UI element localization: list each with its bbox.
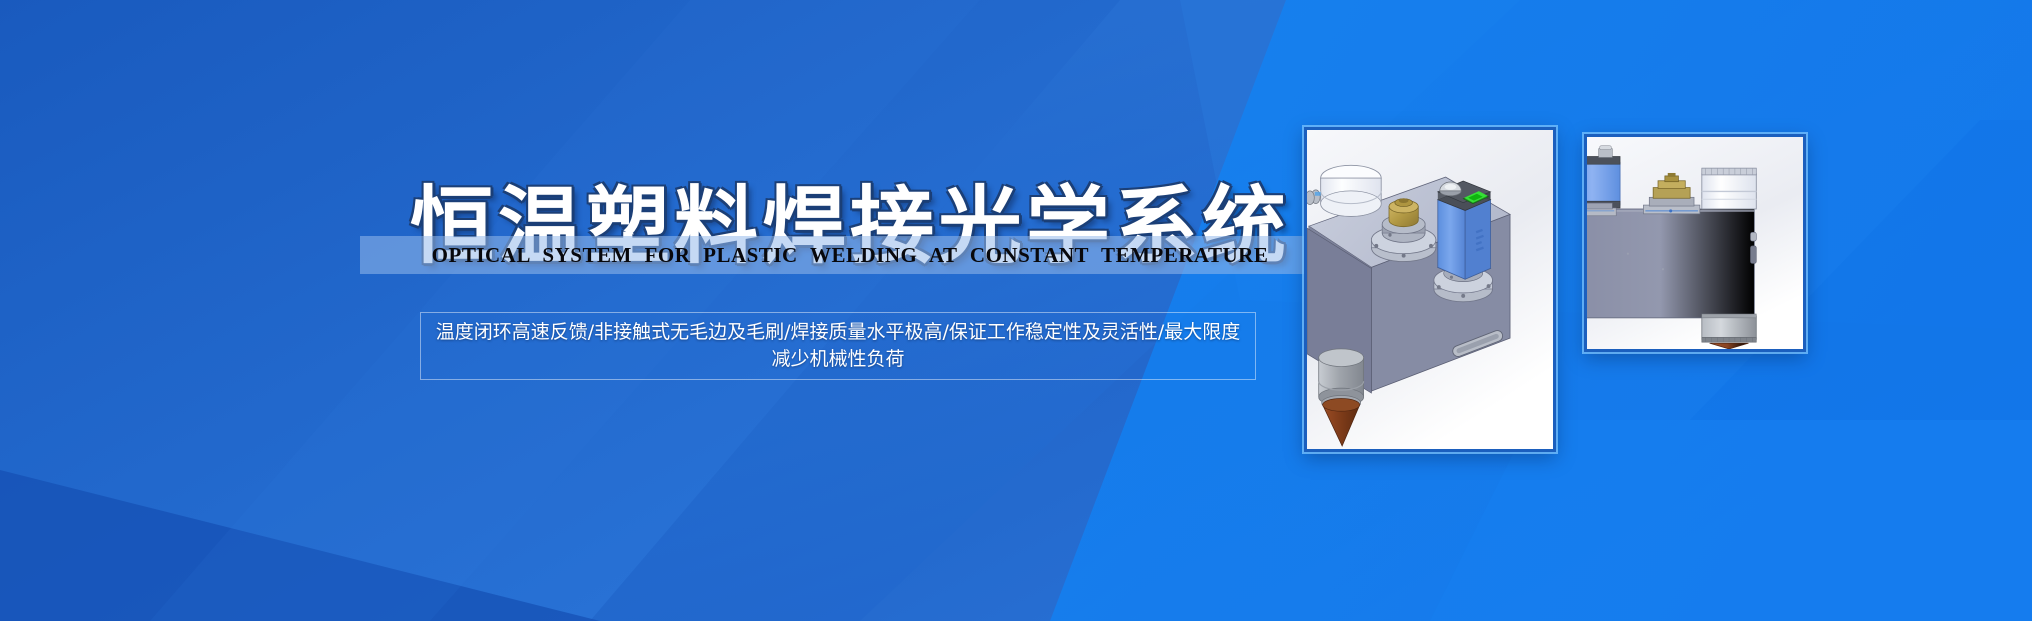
subtitle-text: 温度闭环高速反馈/非接触式无毛边及毛刷/焊接质量水平极高/保证工作稳定性及灵活性… (421, 319, 1255, 373)
welding-head-front-drawing (1587, 137, 1803, 349)
product-image-isometric (1304, 127, 1556, 452)
product-banner: 恒温塑料焊接光学系统 OPTICAL SYSTEM FOR PLASTIC WE… (0, 0, 2032, 621)
subtitle-box: 温度闭环高速反馈/非接触式无毛边及毛刷/焊接质量水平极高/保证工作稳定性及灵活性… (420, 312, 1256, 380)
product-image-front (1584, 134, 1806, 352)
title-english: OPTICAL SYSTEM FOR PLASTIC WELDING AT CO… (400, 236, 1300, 274)
headline-group: 恒温塑料焊接光学系统 OPTICAL SYSTEM FOR PLASTIC WE… (400, 188, 1300, 308)
welding-head-isometric-drawing (1307, 130, 1553, 449)
